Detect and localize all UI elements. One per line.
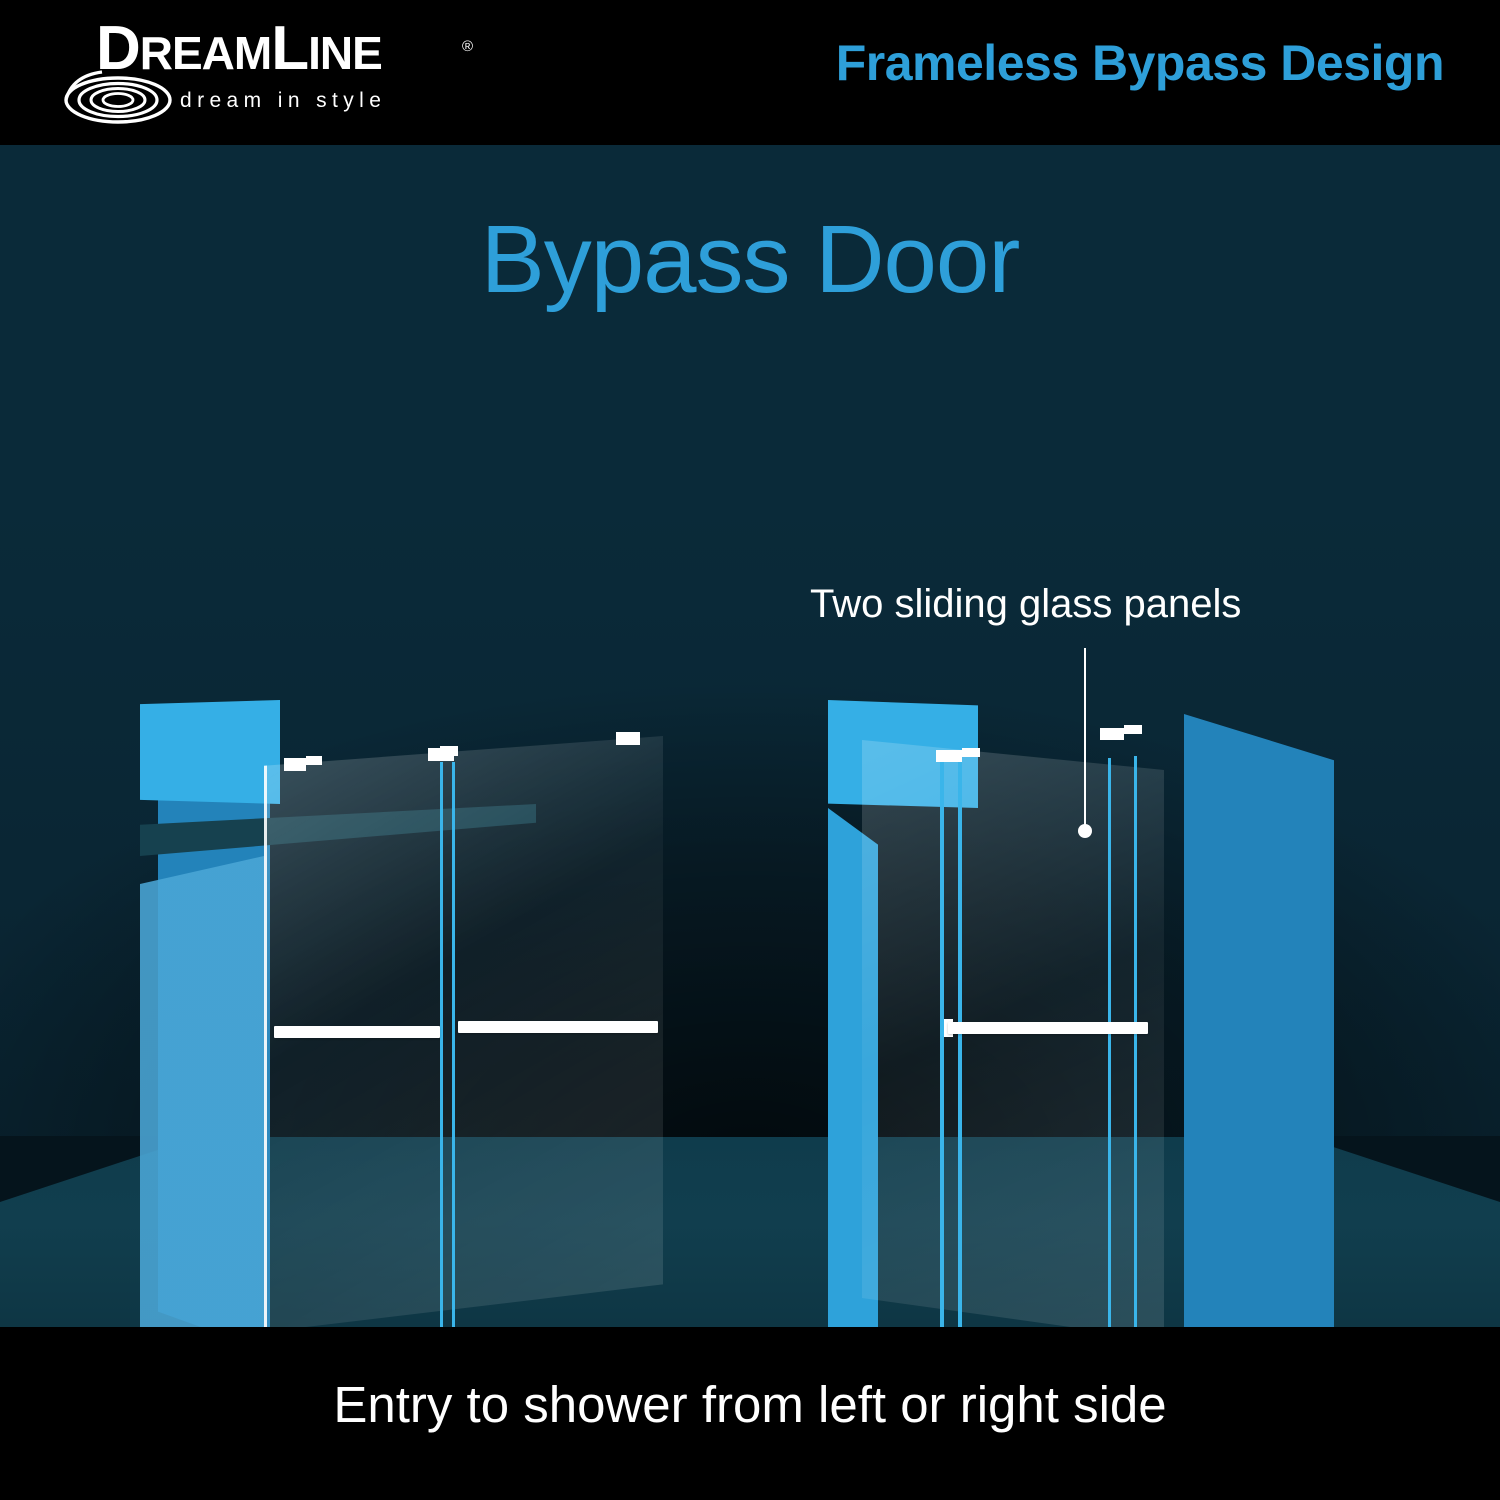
right-unit-side-wall bbox=[1184, 714, 1334, 1327]
left-unit-roller-bracket bbox=[284, 758, 306, 771]
right-unit-handle[interactable] bbox=[948, 1022, 1148, 1034]
left-unit-panel-seam-b bbox=[452, 762, 455, 1327]
header-bar: DREAMLINE ® dream in style Frameless Byp… bbox=[0, 0, 1500, 145]
callout-leader-line bbox=[1084, 648, 1086, 830]
right-unit-roller-bracket bbox=[1100, 728, 1124, 740]
left-unit-roller-bracket bbox=[440, 746, 458, 756]
callout-label: Two sliding glass panels bbox=[810, 582, 1410, 627]
left-shower-enclosure bbox=[140, 700, 700, 1327]
footer-caption: Entry to shower from left or right side bbox=[0, 1375, 1500, 1434]
right-shower-enclosure bbox=[828, 700, 1388, 1327]
right-unit-panel-seam-a bbox=[940, 762, 944, 1327]
logo-tagline: dream in style bbox=[180, 89, 386, 113]
right-unit-panel-seam-d bbox=[1134, 756, 1137, 1327]
left-unit-wall-skirt bbox=[140, 700, 280, 804]
right-unit-roller-bracket bbox=[1124, 725, 1142, 734]
dreamline-logo: DREAMLINE ® dream in style bbox=[62, 16, 462, 128]
left-unit-roller-bracket bbox=[306, 756, 322, 765]
callout-anchor-dot bbox=[1078, 824, 1092, 838]
right-unit-roller-bracket bbox=[936, 750, 962, 762]
logo-wordmark: DREAMLINE bbox=[96, 18, 382, 80]
product-infographic: DREAMLINE ® dream in style Frameless Byp… bbox=[0, 0, 1500, 1500]
logo-letter-d: D bbox=[96, 14, 140, 83]
header-title: Frameless Bypass Design bbox=[836, 34, 1444, 92]
logo-letters-ine: INE bbox=[308, 27, 382, 79]
left-unit-far-wall bbox=[140, 856, 264, 1327]
page-title: Bypass Door bbox=[0, 205, 1500, 315]
logo-letter-l: L bbox=[271, 14, 308, 83]
logo-letters-ream: REAM bbox=[140, 27, 271, 79]
right-unit-roller-bracket bbox=[962, 748, 980, 757]
registered-trademark-icon: ® bbox=[462, 38, 473, 55]
left-unit-handle-b[interactable] bbox=[458, 1021, 658, 1033]
left-unit-panel-seam-a bbox=[440, 762, 443, 1327]
footer-bar: Entry to shower from left or right side bbox=[0, 1327, 1500, 1500]
left-unit-handle-a[interactable] bbox=[274, 1026, 440, 1038]
scene-background: Bypass Door Two sliding glass panels bbox=[0, 145, 1500, 1327]
right-unit-panel-seam-b bbox=[958, 762, 962, 1327]
right-unit-panel-seam-c bbox=[1108, 758, 1111, 1327]
left-unit-roller-bracket bbox=[616, 732, 640, 745]
